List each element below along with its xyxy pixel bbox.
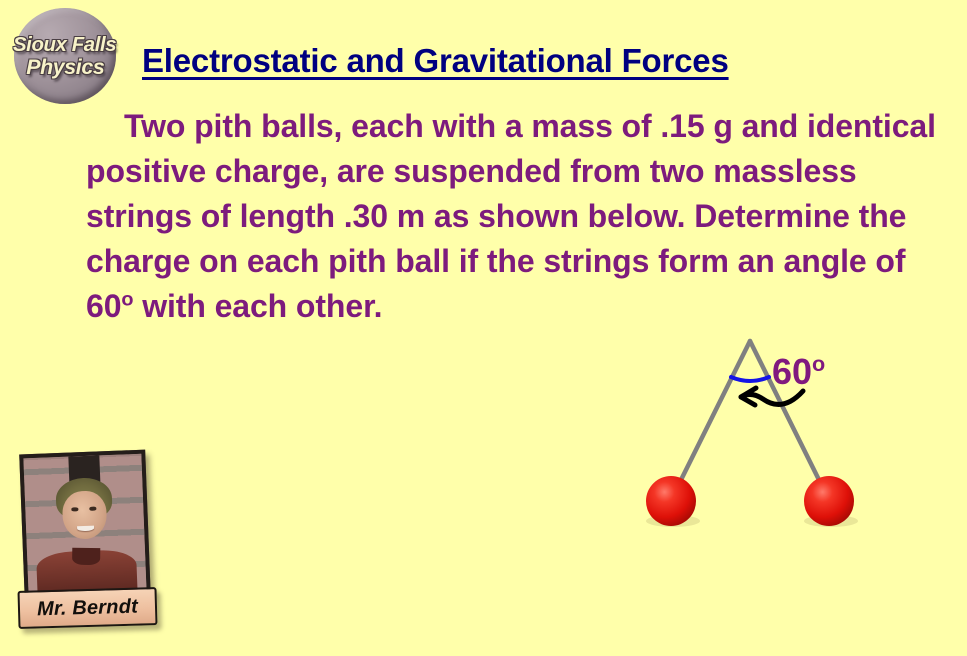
logo-line-1: Sioux Falls [13, 35, 116, 56]
angle-degree-symbol: o [812, 351, 825, 376]
slide-title: Electrostatic and Gravitational Forces [142, 42, 729, 80]
teacher-photo-block: Mr. Berndt [18, 452, 168, 642]
nameplate-label: Mr. Berndt [37, 595, 139, 621]
logo-line-2: Physics [26, 57, 104, 78]
pith-ball-left [646, 476, 696, 526]
slide-canvas: Sioux Falls Physics Electrostatic and Gr… [0, 0, 967, 656]
degree-symbol-inline: o [121, 288, 133, 310]
collar [72, 548, 101, 565]
problem-line-6: with each other. [142, 288, 382, 324]
logo-wordmark: Sioux Falls Physics [14, 8, 116, 104]
problem-line-1: Two pith balls, each with a mass of .15 … [124, 108, 733, 144]
person-portrait [23, 454, 146, 597]
nameplate: Mr. Berndt [17, 587, 157, 629]
sioux-falls-physics-logo: Sioux Falls Physics [14, 8, 116, 104]
face [61, 490, 108, 540]
teacher-photo [19, 450, 151, 602]
pith-ball-right [804, 476, 854, 526]
string-left [676, 341, 750, 490]
angle-arc [731, 377, 769, 381]
problem-statement: Two pith balls, each with a mass of .15 … [86, 104, 946, 329]
pith-ball-diagram: 60o [620, 325, 900, 540]
angle-value: 60 [772, 351, 812, 392]
angle-label: 60o [772, 351, 825, 393]
eye-right [89, 507, 96, 511]
